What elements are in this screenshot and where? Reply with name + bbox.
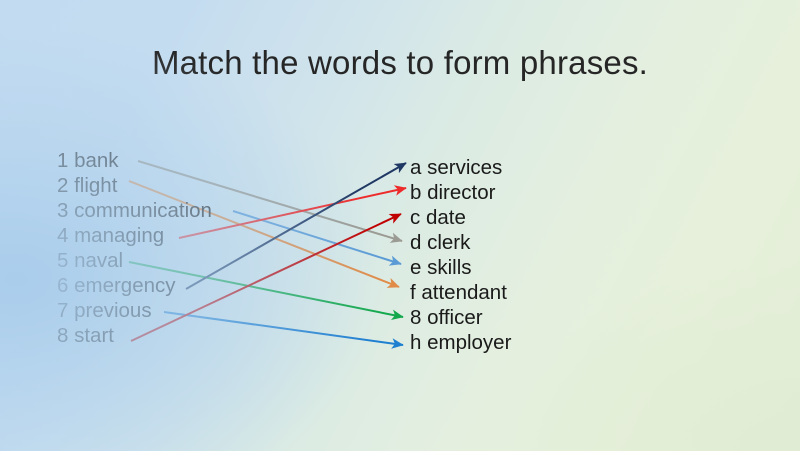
list-item[interactable]: d clerk: [410, 230, 511, 255]
list-item[interactable]: 4 managing: [57, 223, 212, 248]
list-item[interactable]: 5 naval: [57, 248, 212, 273]
connector-line[interactable]: [179, 188, 406, 238]
page-title: Match the words to form phrases.: [0, 44, 800, 82]
list-item[interactable]: 2 flight: [57, 173, 212, 198]
connector-line[interactable]: [186, 163, 406, 289]
list-item[interactable]: c date: [410, 205, 511, 230]
list-item[interactable]: a services: [410, 155, 511, 180]
list-item[interactable]: h employer: [410, 330, 511, 355]
list-item[interactable]: 1 bank: [57, 148, 212, 173]
left-word-list: 1 bank 2 flight 3 communication 4 managi…: [57, 148, 212, 348]
list-item[interactable]: 7 previous: [57, 298, 212, 323]
list-item[interactable]: b director: [410, 180, 511, 205]
list-item[interactable]: e skills: [410, 255, 511, 280]
list-item[interactable]: f attendant: [410, 280, 511, 305]
connector-line[interactable]: [233, 211, 401, 264]
right-word-list: a services b director c date d clerk e s…: [410, 155, 511, 355]
list-item[interactable]: 8 officer: [410, 305, 511, 330]
list-item[interactable]: 3 communication: [57, 198, 212, 223]
slide-canvas: Match the words to form phrases.: [0, 0, 800, 451]
list-item[interactable]: 6 emergency: [57, 273, 212, 298]
list-item[interactable]: 8 start: [57, 323, 212, 348]
